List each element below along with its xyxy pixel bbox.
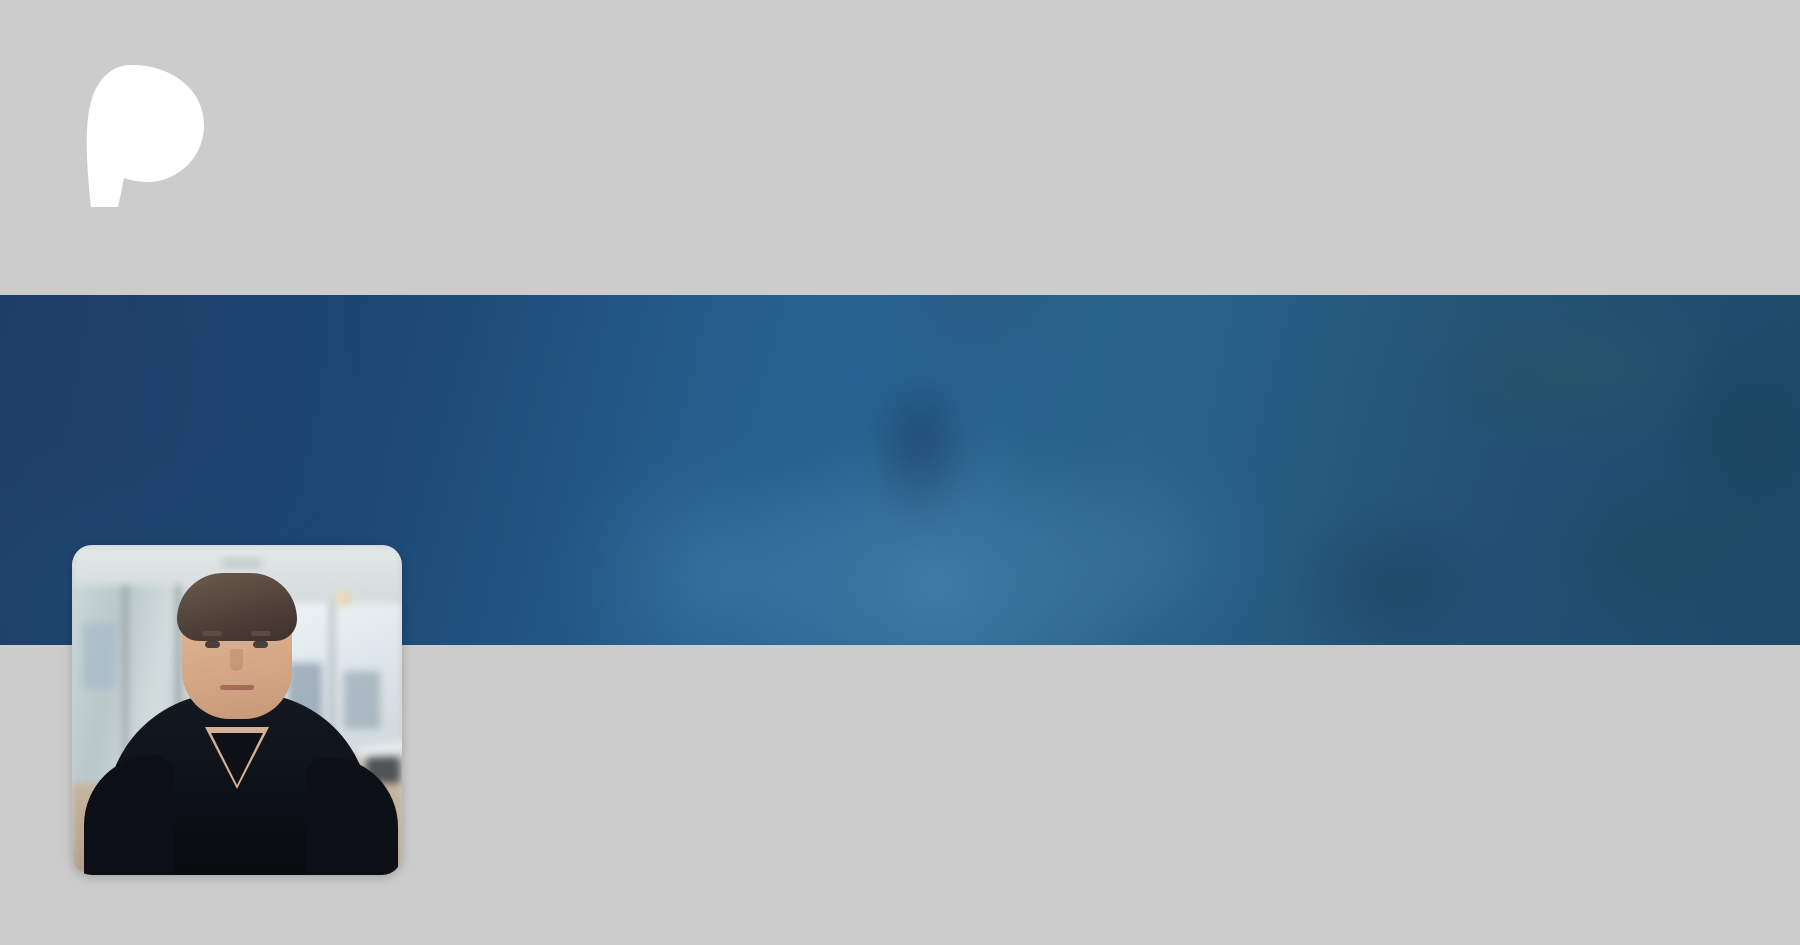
avatar-person [72, 545, 402, 875]
creator-avatar-image [72, 545, 402, 875]
patreon-logo-icon [78, 62, 208, 210]
creator-avatar[interactable] [72, 545, 402, 875]
patreon-creator-page: The Grad School Prep Community Insider S… [0, 0, 1800, 945]
patreon-logo[interactable] [78, 62, 208, 210]
